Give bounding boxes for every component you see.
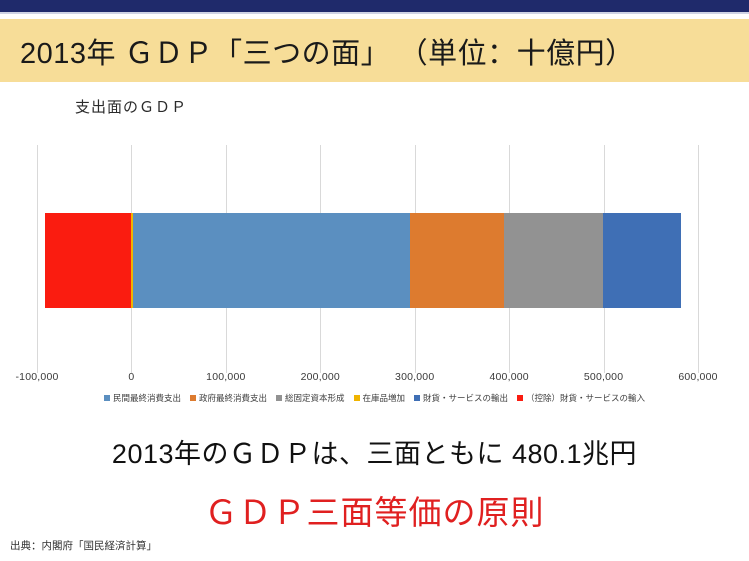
legend-label: （控除）財貨・サービスの輸入: [526, 394, 645, 403]
legend-item[interactable]: 政府最終消費支出: [190, 394, 267, 403]
x-tick-label: 300,000: [395, 371, 434, 383]
legend-label: 民間最終消費支出: [113, 394, 181, 403]
bar-segment: [133, 213, 411, 308]
legend-swatch-icon: [517, 395, 523, 401]
bar-segment: [45, 213, 132, 308]
x-tick-label: 200,000: [301, 371, 340, 383]
gridline: [698, 145, 699, 373]
x-tick-label: 400,000: [489, 371, 528, 383]
legend-label: 政府最終消費支出: [199, 394, 267, 403]
legend-swatch-icon: [414, 395, 420, 401]
legend-swatch-icon: [276, 395, 282, 401]
legend-item[interactable]: 総固定資本形成: [276, 394, 345, 403]
chart-area: [0, 140, 749, 392]
legend-swatch-icon: [104, 395, 110, 401]
x-tick-label: 500,000: [584, 371, 623, 383]
summary-statement: 2013年のＧＤＰは、三面ともに 480.1兆円: [0, 432, 749, 471]
legend-item[interactable]: （控除）財貨・サービスの輸入: [517, 394, 645, 403]
bar-segment: [410, 213, 503, 308]
bar-segment: [603, 213, 681, 308]
principle-statement: ＧＤＰ三面等価の原則: [0, 486, 749, 534]
source-note: 出典：内閣府「国民経済計算」: [10, 538, 157, 553]
legend-swatch-icon: [354, 395, 360, 401]
chart-legend: 民間最終消費支出政府最終消費支出総固定資本形成在庫品増加財貨・サービスの輸出（控…: [0, 394, 749, 403]
chart-plot: [37, 145, 698, 373]
x-axis-tick-labels: -100,0000100,000200,000300,000400,000500…: [0, 371, 749, 387]
top-navy-band: [0, 0, 749, 12]
x-tick-label: 100,000: [206, 371, 245, 383]
legend-label: 総固定資本形成: [285, 394, 345, 403]
legend-item[interactable]: 財貨・サービスの輸出: [414, 394, 508, 403]
page-title: 2013年 ＧＤＰ「三つの面」 （単位：十億円）: [0, 30, 635, 72]
top-navy-band-shadow: [0, 12, 749, 14]
x-tick-label: 0: [128, 371, 134, 383]
legend-swatch-icon: [190, 395, 196, 401]
chart-heading: 支出面のＧＤＰ: [75, 96, 187, 117]
legend-item[interactable]: 民間最終消費支出: [104, 394, 181, 403]
slide-title-band: 2013年 ＧＤＰ「三つの面」 （単位：十億円）: [0, 19, 749, 82]
bar-segment: [504, 213, 603, 308]
x-tick-label: 600,000: [678, 371, 717, 383]
legend-label: 在庫品増加: [363, 394, 406, 403]
legend-item[interactable]: 在庫品増加: [354, 394, 406, 403]
legend-label: 財貨・サービスの輸出: [423, 394, 508, 403]
x-tick-label: -100,000: [15, 371, 58, 383]
stacked-bar: [37, 213, 698, 308]
